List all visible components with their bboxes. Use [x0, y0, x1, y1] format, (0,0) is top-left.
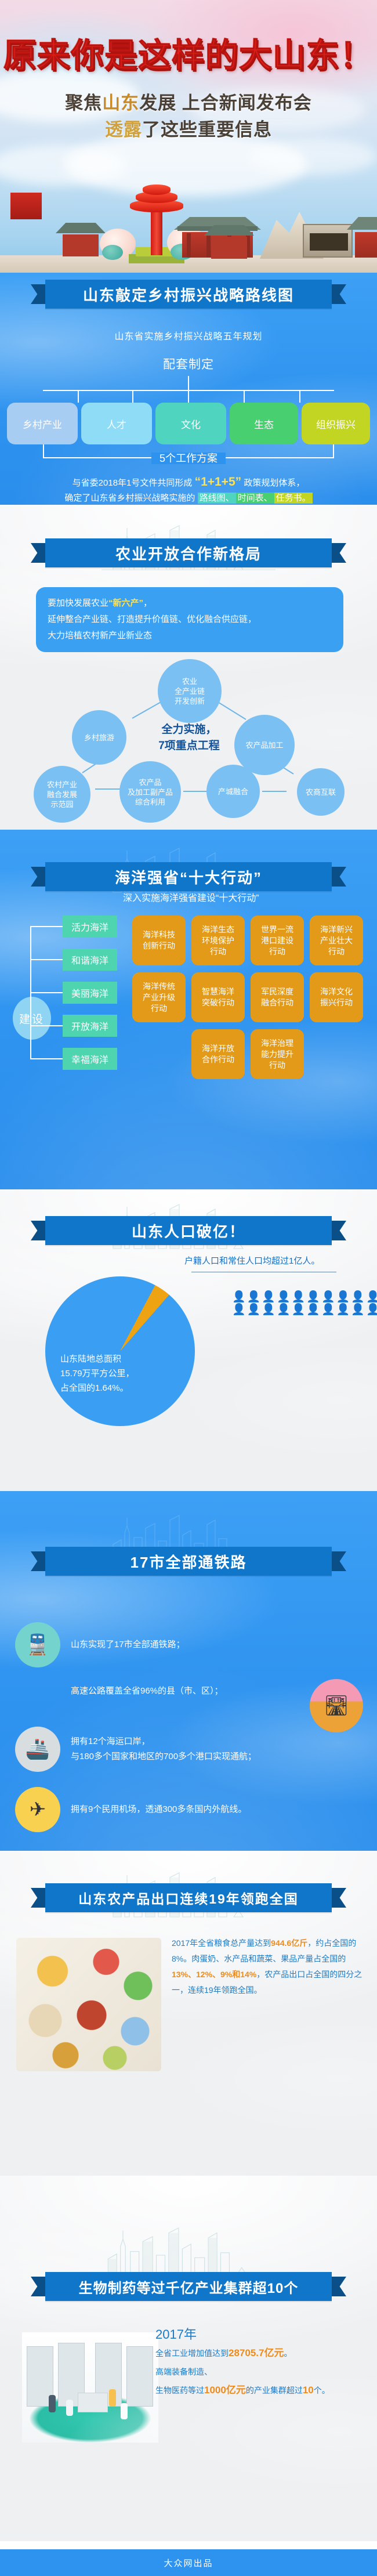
section3-title: 海洋强省“十大行动”	[115, 866, 262, 888]
transport-highway-text: 高速公路覆盖全省96%的县（市、区）；	[71, 1684, 223, 1699]
lead-underline	[191, 1272, 336, 1272]
action-traditional-upgrade[interactable]: 海洋传统产业升级行动	[132, 972, 186, 1022]
tree-connector-branch	[30, 1058, 63, 1059]
s7-cluster-count: 10	[303, 2385, 314, 2396]
center-line1: 全力实施，	[137, 722, 241, 738]
red-banner-decoration	[10, 193, 42, 219]
note1-b: 政策规划体系，	[244, 478, 304, 488]
chip-talent[interactable]: 人才	[81, 403, 152, 444]
s7-line3-a: 生物医药等过	[155, 2386, 204, 2395]
hero-sub1-highlight: 山东	[102, 93, 139, 113]
person-icon: 👤	[277, 1304, 291, 1315]
card-line1-highlight: “新六产”	[108, 598, 143, 608]
section2-title-banner: 农业开放合作新格局	[45, 538, 332, 567]
node-full-chain[interactable]: 农业全产业链开发创新	[158, 659, 222, 723]
connector-drop	[78, 390, 79, 403]
s7-line1: 全省工业增加值达到28705.7亿元。	[155, 2344, 369, 2362]
person-icon-highlight: 👤	[336, 1291, 350, 1303]
section1-note-line2: 确定了山东省乡村振兴战略实施的 路线图、时间表、任务书。	[0, 491, 377, 505]
page-footer: 大众网出品	[0, 2549, 377, 2576]
agri-products-photo	[16, 1938, 161, 2071]
section1-note: 与省委2018年1号文件共同形成 “1+1+5” 政策规划体系， 确定了山东省乡…	[0, 475, 377, 505]
connector-drop	[188, 390, 189, 403]
section3-subtitle: 深入实施海洋强省建设“十大行动”	[123, 890, 367, 904]
s7-line3-c: 个。	[314, 2386, 330, 2395]
train-icon: 🚆	[15, 1622, 60, 1667]
chip-organization[interactable]: 组织振兴	[302, 403, 370, 444]
hero-sub2-part2: 了这些重要信息	[142, 120, 272, 140]
diagram-center-label: 全力实施， 7项重点工程	[137, 722, 241, 754]
node-rural-tourism[interactable]: 乡村旅游	[72, 710, 126, 765]
person-icon: 👤	[232, 1304, 246, 1315]
tree-connector-branch	[30, 926, 63, 927]
connector-drop	[299, 390, 300, 403]
s6-line1-b: ，	[307, 1938, 316, 1948]
hero-title: 原来你是这样的大山东！	[0, 39, 377, 73]
action-governance[interactable]: 海洋治理能力提升行动	[251, 1029, 304, 1079]
ocean-goal-happy[interactable]: 幸福海洋	[63, 1048, 117, 1070]
s6-percentages: 13%、12%、9%和14%	[172, 1970, 256, 1979]
card-line1: 要加快发展农业“新六产”，	[48, 595, 332, 612]
hero-subtitle-line1: 聚焦山东发展 上合新闻发布会	[0, 88, 377, 114]
hero-banner: 原来你是这样的大山东！ 聚焦山东发展 上合新闻发布会 透露了这些重要信息	[0, 0, 377, 273]
section2-ribbon: 农业开放合作新格局	[0, 538, 377, 571]
action-sci-tech[interactable]: 海洋科技创新行动	[132, 916, 186, 965]
section3-title-banner: 海洋强省“十大行动”	[45, 862, 332, 891]
pie-line3: 占全国的1.64%。	[60, 1381, 182, 1395]
section7-title: 生物制药等过千亿产业集群超10个	[79, 2277, 299, 2297]
note1-a: 与省委2018年1号文件共同形成	[72, 478, 193, 488]
stele-icon	[303, 224, 353, 258]
section6-ribbon: 山东农产品出口连续19年领跑全国	[0, 1883, 377, 1916]
pharmacy-illustration	[22, 2332, 158, 2443]
ocean-goal-beautiful[interactable]: 美丽海洋	[63, 982, 117, 1004]
pie-line1: 山东陆地总面积	[60, 1352, 182, 1366]
connector-drop	[244, 390, 245, 403]
hero-sub1-part1: 聚焦	[65, 93, 102, 113]
skyline-watermark-icon	[96, 2210, 281, 2280]
section-ocean-province: 海洋强省“十大行动” 深入实施海洋强省建设“十大行动” 建设 活力海洋 和谐海洋…	[0, 830, 377, 1189]
pie-caption: 山东陆地总面积 15.79万平方公里， 占全国的1.64%。	[60, 1352, 182, 1395]
s7-line3: 生物医药等过1000亿元的产业集群超过10个。	[155, 2381, 369, 2400]
chip-culture[interactable]: 文化	[155, 403, 226, 444]
person-icon: 👤	[262, 1291, 275, 1303]
section2-title: 农业开放合作新格局	[115, 542, 262, 564]
pictogram-row-2: 👤👤👤👤👤👤👤👤👤👤👤	[232, 1304, 360, 1315]
seven-projects-diagram: 农业全产业链开发创新 农产品加工 农商互联 产城融合 农产品及加工副产品综合利用…	[0, 650, 377, 824]
s7-line2: 高端装备制造、	[155, 2362, 369, 2381]
s7-line3-b: 的产业集群超过	[246, 2386, 303, 2395]
infographic-page: 原来你是这样的大山东！ 聚焦山东发展 上合新闻发布会 透露了这些重要信息	[0, 0, 377, 2576]
action-eco-protection[interactable]: 海洋生态环境保护行动	[191, 916, 245, 965]
spacer	[15, 1669, 60, 1714]
footer-label: 大众网出品	[164, 2557, 213, 2569]
hero-sub1-part2: 发展 上合新闻发布会	[139, 93, 312, 113]
action-new-industry[interactable]: 海洋新兴产业壮大行动	[310, 916, 363, 965]
person-icon-highlight: 👤	[366, 1291, 377, 1303]
pictogram-row-1: 👤👤👤👤👤👤👤👤👤👤👤	[232, 1291, 360, 1303]
counter-icon	[78, 2393, 108, 2412]
person-icon: 👤	[292, 1291, 306, 1303]
badge-tasklist: 任务书。	[274, 493, 313, 504]
person-icon: 👤	[232, 1291, 246, 1303]
person-icon: 👤	[247, 1304, 261, 1315]
ocean-actions-grid: 海洋科技创新行动 海洋生态环境保护行动 世界一流港口建设行动 海洋新兴产业壮大行…	[132, 916, 367, 1086]
s7-line1-b: 。	[284, 2349, 292, 2358]
s6-grain-output: 944.6亿斤	[271, 1938, 307, 1948]
tree-connector-branch	[30, 992, 63, 993]
hero-subtitle-line2: 透露了这些重要信息	[0, 115, 377, 141]
action-smart-ocean[interactable]: 智慧海洋突破行动	[191, 972, 245, 1022]
note1-big: “1+1+5”	[195, 475, 242, 489]
actions-row-3: 海洋开放合作行动 海洋治理能力提升行动	[191, 1029, 367, 1079]
person-icon: 👤	[292, 1304, 306, 1315]
node-byproduct-use[interactable]: 农产品及加工副产品综合利用	[119, 761, 181, 823]
pavilion-icon	[56, 223, 106, 258]
shelf-icon	[126, 2346, 153, 2407]
section-transportation: 17市全部通铁路 🚆 山东实现了17市全部通铁路； 🛣 高速公路覆盖全省96%的…	[0, 1491, 377, 1851]
s7-cluster-value: 1000亿元	[204, 2385, 246, 2396]
transport-ship-text: 拥有12个海运口岸，与180多个国家和地区的700多个港口实现通航；	[71, 1734, 256, 1764]
person-icon	[121, 2403, 128, 2419]
action-civil-military[interactable]: 军民深度融合行动	[251, 972, 304, 1022]
section1-title-banner: 山东敲定乡村振兴战略路线图	[45, 280, 332, 309]
section2-callout-card: 要加快发展农业“新六产”， 延伸整合产业链、打造提升价值链、优化融合供应链， 大…	[36, 587, 343, 652]
landmark-illustration	[0, 168, 377, 273]
badge-roadmap: 路线图、	[198, 493, 236, 504]
person-icon: 👤	[306, 1291, 320, 1303]
section7-year: 2017年	[155, 2325, 369, 2344]
section4-title: 山东人口破亿！	[132, 1220, 245, 1242]
small-pavilion-icon	[204, 225, 254, 260]
section7-body-text: 2017年 全省工业增加值达到28705.7亿元。 高端装备制造、 生物医药等过…	[155, 2325, 369, 2400]
actions-row-2: 海洋传统产业升级行动 智慧海洋突破行动 军民深度融合行动 海洋文化振兴行动	[132, 972, 367, 1022]
card-line3: 大力培植农村新产业新业态	[48, 628, 332, 644]
transport-air-text: 拥有9个民用机场，透通300多条国内外航线。	[71, 1802, 246, 1817]
person-icon-highlight: 👤	[366, 1304, 377, 1315]
section-population: 山东人口破亿！ 户籍人口和常住人口均超过1亿人。 山东陆地总面积 15.79万平…	[0, 1189, 377, 1491]
actions-row-1: 海洋科技创新行动 海洋生态环境保护行动 世界一流港口建设行动 海洋新兴产业壮大行…	[132, 916, 367, 965]
transport-row-ship: 🚢 拥有12个海运口岸，与180多个国家和地区的700多个港口实现通航；	[15, 1727, 363, 1772]
node-processing[interactable]: 农产品加工	[234, 715, 295, 775]
node-city-industry[interactable]: 产城融合	[206, 765, 260, 818]
connector-drop	[132, 390, 133, 403]
person-icon: 👤	[306, 1304, 320, 1315]
pie-line2: 15.79万平方公里，	[60, 1366, 182, 1381]
transport-rail-text: 山东实现了17市全部通铁路；	[71, 1637, 185, 1652]
person-icon: 👤	[262, 1304, 275, 1315]
person-icon	[109, 2389, 116, 2407]
section-agriculture-opening: 农业开放合作新格局 要加快发展农业“新六产”， 延伸整合产业链、打造提升价值链、…	[0, 505, 377, 830]
section1-title: 山东敲定乡村振兴战略路线图	[83, 284, 294, 305]
action-ocean-culture[interactable]: 海洋文化振兴行动	[310, 972, 363, 1022]
tree-connector-branch	[30, 1025, 63, 1026]
person-icon-highlight: 👤	[351, 1304, 365, 1315]
tree-connector-branch	[30, 959, 63, 960]
person-icon	[49, 2395, 56, 2412]
card-line1-b: ，	[143, 598, 152, 608]
connector-vertical	[188, 376, 189, 390]
section1-subtitle: 山东省实施乡村振兴战略五年规划	[0, 328, 377, 342]
node-demo-park[interactable]: 农村产业融合发展示范园	[34, 766, 90, 823]
chip-ecology[interactable]: 生态	[230, 403, 298, 444]
section5-title-banner: 17市全部通铁路	[45, 1547, 332, 1576]
person-icon: 👤	[247, 1291, 261, 1303]
card-line2: 延伸整合产业链、打造提升价值链、优化融合供应链，	[48, 612, 332, 628]
section4-title-banner: 山东人口破亿！	[45, 1216, 332, 1245]
section1-plan-wrap: 5个工作方案	[0, 450, 377, 465]
s6-line1-a: 2017年全省粮食总产量达到	[172, 1938, 271, 1948]
section7-title-banner: 生物制药等过千亿产业集群超10个	[45, 2272, 332, 2301]
s7-industrial-value: 28705.7亿元	[229, 2347, 284, 2358]
transport-row-air: ✈ 拥有9个民用机场，透通300多条国内外航线。	[15, 1787, 363, 1832]
person-icon-highlight: 👤	[351, 1291, 365, 1303]
section1-note-line1: 与省委2018年1号文件共同形成 “1+1+5” 政策规划体系，	[0, 475, 377, 491]
land-area-pie-chart	[45, 1276, 195, 1426]
action-world-class-port[interactable]: 世界一流港口建设行动	[251, 916, 304, 965]
node-agri-commerce[interactable]: 农商互联	[297, 768, 345, 816]
ship-icon: 🚢	[15, 1727, 60, 1772]
plane-icon: ✈	[15, 1787, 60, 1832]
section7-ribbon: 生物制药等过千亿产业集群超10个	[0, 2272, 377, 2304]
section-bio-pharma: 生物制药等过千亿产业集群超10个 2017年 全省工业增加值达到28705.7亿…	[0, 2176, 377, 2541]
section5-title: 17市全部通铁路	[130, 1551, 247, 1572]
section1-middle-label: 配套制定	[0, 355, 377, 372]
temple-icon	[347, 217, 377, 259]
section6-title-banner: 山东农产品出口连续19年领跑全国	[45, 1883, 332, 1912]
section-rural-revitalization: 山东敲定乡村振兴战略路线图 山东省实施乡村振兴战略五年规划 配套制定 乡村产业 …	[0, 273, 377, 505]
shrub-icon	[102, 245, 123, 260]
card-line1-a: 要加快发展农业	[48, 598, 108, 608]
person-icon: 👤	[277, 1291, 291, 1303]
population-lead-text: 户籍人口和常住人口均超过1亿人。	[184, 1254, 320, 1267]
person-icon: 👤	[321, 1304, 335, 1315]
section-agri-export: 山东农产品出口连续19年领跑全国 2017年全省粮食总产量达到944.6亿斤，约…	[0, 1851, 377, 2176]
section5-ribbon: 17市全部通铁路	[0, 1547, 377, 1579]
section6-body-text: 2017年全省粮食总产量达到944.6亿斤，约占全国的8%。肉蛋奶、水产品和蔬菜…	[172, 1935, 363, 1998]
center-line2: 7项重点工程	[137, 738, 241, 754]
transport-row-rail: 🚆 山东实现了17市全部通铁路；	[15, 1622, 363, 1667]
person-icon-highlight: 👤	[321, 1291, 335, 1303]
people-pictogram: 👤👤👤👤👤👤👤👤👤👤👤 👤👤👤👤👤👤👤👤👤👤👤	[232, 1291, 360, 1317]
build-label-badge: 建设	[13, 997, 51, 1040]
badge-timetable: 时间表、	[236, 493, 274, 504]
section6-title: 山东农产品出口连续19年领跑全国	[78, 1888, 299, 1908]
person-icon	[66, 2400, 73, 2416]
hero-sub2-highlight: 透露	[105, 120, 142, 140]
ocean-goal-list: 活力海洋 和谐海洋 美丽海洋 开放海洋 幸福海洋	[63, 916, 117, 1081]
ocean-goal-open[interactable]: 开放海洋	[63, 1015, 117, 1037]
section4-ribbon: 山东人口破亿！	[0, 1216, 377, 1249]
section1-ribbon: 山东敲定乡村振兴战略路线图	[0, 280, 377, 312]
action-open-cooperation[interactable]: 海洋开放合作行动	[191, 1029, 245, 1079]
ocean-goal-harmony[interactable]: 和谐海洋	[63, 949, 117, 971]
section1-plan-label: 5个工作方案	[151, 453, 226, 464]
section1-chip-list: 乡村产业 人才 文化 生态 组织振兴	[0, 403, 377, 444]
note2-a: 确定了山东省乡村振兴战略实施的	[64, 493, 195, 503]
chip-rural-industry[interactable]: 乡村产业	[7, 403, 78, 444]
transport-row-highway: 高速公路覆盖全省96%的县（市、区）；	[15, 1669, 363, 1714]
ocean-goal-vital[interactable]: 活力海洋	[63, 916, 117, 938]
s7-line1-a: 全省工业增加值达到	[155, 2349, 229, 2358]
s6-line3: 连续19年领跑全国。	[188, 1985, 262, 1995]
person-icon-highlight: 👤	[336, 1304, 350, 1315]
